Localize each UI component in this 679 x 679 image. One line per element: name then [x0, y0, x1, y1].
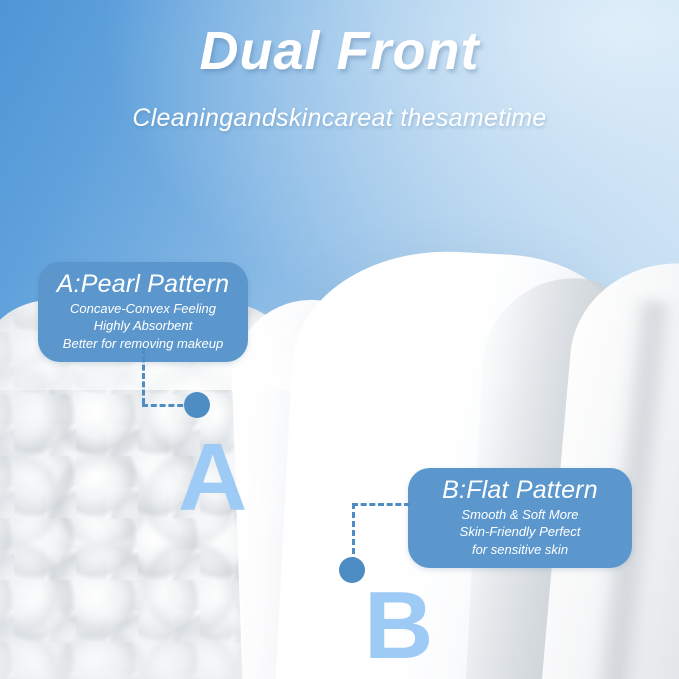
callout-b-connector-vertical	[352, 503, 355, 563]
callout-box-a: A:Pearl Pattern Concave-Convex Feeling H…	[38, 262, 248, 362]
page-subtitle: Cleaningandskincareat thesametime	[0, 104, 679, 133]
callout-b-connector-horizontal	[352, 503, 410, 506]
callout-a-marker-dot	[184, 392, 210, 418]
callout-b-line-2: Skin-Friendly Perfect	[422, 523, 618, 540]
callout-a-title: A:Pearl Pattern	[38, 262, 248, 297]
page-title: Dual Front	[0, 20, 679, 82]
callout-box-b: B:Flat Pattern Smooth & Soft More Skin-F…	[408, 468, 632, 568]
callout-b-line-3: for sensitive skin	[422, 541, 618, 558]
callout-a-line-1: Concave-Convex Feeling	[52, 300, 234, 317]
callout-a-line-2: Highly Absorbent	[52, 317, 234, 334]
product-infographic: Dual Front Cleaningandskincareat thesame…	[0, 0, 679, 679]
callout-b-line-1: Smooth & Soft More	[422, 506, 618, 523]
callout-b-title: B:Flat Pattern	[408, 468, 632, 503]
marker-letter-b: B	[364, 578, 433, 674]
callout-b-description: Smooth & Soft More Skin-Friendly Perfect…	[408, 503, 632, 567]
callout-b-marker-dot	[339, 557, 365, 583]
callout-a-connector-vertical	[142, 348, 145, 404]
marker-letter-a: A	[178, 430, 247, 526]
